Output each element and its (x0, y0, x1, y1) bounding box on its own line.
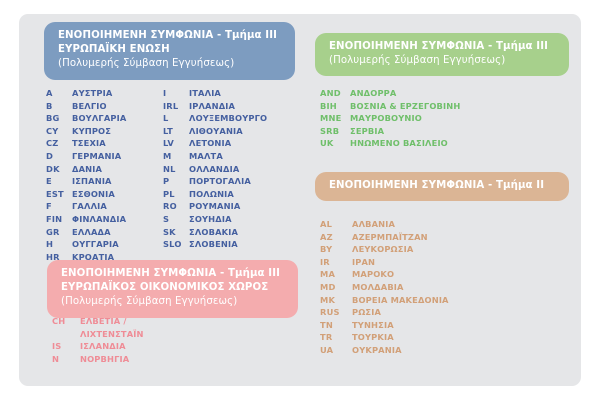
country-row: ANDΑΝΔΟΡΡΑ (320, 87, 460, 100)
tan-header-line-1: ΕΝΟΠΟΙΗΜΕΝΗ ΣΥΜΦΩΝΙΑ - Τμήμα II (329, 179, 555, 193)
country-name: ΣΛΟΒΑΚΙΑ (189, 226, 238, 239)
country-code: SK (163, 226, 189, 239)
eu-country-list-left: AΑΥΣΤΡΙΑBΒΕΛΓΙΟBGΒΟΥΛΓΑΡΙΑCYΚΥΠΡΟΣCZΤΣΕΧ… (46, 87, 126, 263)
country-code: CH (52, 315, 80, 328)
country-row: MAΜΑΡΟΚΟ (320, 268, 449, 281)
country-row: AΑΥΣΤΡΙΑ (46, 87, 126, 100)
country-code: PL (163, 188, 189, 201)
country-name: ΒΟΡΕΙΑ ΜΑΚΕΔΟΝΙΑ (352, 294, 449, 307)
country-name: ΛΕΤΟΝΙΑ (189, 137, 231, 150)
tan-country-list: ALΑΛΒΑΝΙΑAZΑΖΕΡΜΠΑΪΤΖΑΝBYΛΕΥΚΟΡΩΣΙΑIRΙΡΑ… (320, 218, 449, 357)
country-code: LT (163, 125, 189, 138)
country-row: LTΛΙΘΟΥΑΝΙΑ (163, 125, 267, 138)
country-name: ΜΑΛΤΑ (189, 150, 223, 163)
country-code: BG (46, 112, 72, 125)
country-code: EST (46, 188, 72, 201)
country-code: UK (320, 137, 350, 150)
country-name: ΡΟΥΜΑΝΙΑ (189, 200, 240, 213)
country-row: TRΤΟΥΡΚΙΑ (320, 331, 449, 344)
country-code: CY (46, 125, 72, 138)
country-code: MD (320, 281, 352, 294)
country-row: RUSΡΩΣΙΑ (320, 306, 449, 319)
country-name: ΓΑΛΛΙΑ (72, 200, 107, 213)
country-code: B (46, 100, 72, 113)
country-name: ΠΟΡΤΟΓΑΛΙΑ (189, 175, 251, 188)
country-name: ΚΥΠΡΟΣ (72, 125, 111, 138)
country-row: TNΤΥΝΗΣΙΑ (320, 319, 449, 332)
country-row: DΓΕΡΜΑΝΙΑ (46, 150, 126, 163)
country-code: D (46, 150, 72, 163)
country-row: CZΤΣΕΧΙΑ (46, 137, 126, 150)
country-row: GRΕΛΛΑΔΑ (46, 226, 126, 239)
pink-header-line-2: ΕΥΡΩΠΑΪΚΟΣ ΟΙΚΟΝΟΜΙΚΟΣ ΧΩΡΟΣ (61, 281, 284, 295)
country-name: ΙΣΛΑΝΔΙΑ (80, 340, 126, 353)
country-row: FΓΑΛΛΙΑ (46, 200, 126, 213)
country-row: ISΙΣΛΑΝΔΙΑ (52, 340, 144, 353)
country-code: MK (320, 294, 352, 307)
country-code: L (163, 112, 189, 125)
country-name: ΗΝΩΜΕΝΟ ΒΑΣΙΛΕΙΟ (350, 137, 448, 150)
country-row: HΟΥΓΓΑΡΙΑ (46, 238, 126, 251)
country-code: BY (320, 243, 352, 256)
country-code: CZ (46, 137, 72, 150)
country-code: AL (320, 218, 352, 231)
country-row: BGΒΟΥΛΓΑΡΙΑ (46, 112, 126, 125)
country-code: GR (46, 226, 72, 239)
country-name: ΙΡΛΑΝΔΙΑ (189, 100, 235, 113)
country-name: ΛΕΥΚΟΡΩΣΙΑ (352, 243, 413, 256)
country-row: PLΠΟΛΩΝΙΑ (163, 188, 267, 201)
country-code: IS (52, 340, 80, 353)
country-name: ΜΑΡΟΚΟ (352, 268, 394, 281)
country-row: SRBΣΕΡΒΙΑ (320, 125, 460, 138)
country-name: ΟΥΚΡΑΝΙΑ (352, 344, 402, 357)
country-code: MNE (320, 112, 350, 125)
green-header-line-2: (Πολυμερής Σύμβαση Εγγυήσεως) (329, 54, 555, 68)
eu-header-line-1: ΕΝΟΠΟΙΗΜΕΝΗ ΣΥΜΦΩΝΙΑ - Τμήμα III (58, 29, 281, 43)
pink-header-line-3: (Πολυμερής Σύμβαση Εγγυήσεως) (61, 295, 284, 309)
country-code: RO (163, 200, 189, 213)
country-name: ΜΑΥΡΟΒΟΥΝΙΟ (350, 112, 422, 125)
pink-section-header: ΕΝΟΠΟΙΗΜΕΝΗ ΣΥΜΦΩΝΙΑ - Τμήμα III ΕΥΡΩΠΑΪ… (47, 260, 298, 318)
country-row: CYΚΥΠΡΟΣ (46, 125, 126, 138)
country-code: IR (320, 256, 352, 269)
country-name: ΕΛΒΕΤΙΑ /ΛΙΧΤΕΝΣΤΑΪΝ (80, 315, 144, 340)
country-row: UKΗΝΩΜΕΝΟ ΒΑΣΙΛΕΙΟ (320, 137, 460, 150)
country-name: ΕΣΘΟΝΙΑ (72, 188, 115, 201)
eu-header-line-3: (Πολυμερής Σύμβαση Εγγυήσεως) (58, 57, 281, 71)
country-name: ΒΟΣΝΙΑ & ΕΡΖΕΓΟΒΙΝΗ (350, 100, 460, 113)
country-row: ALΑΛΒΑΝΙΑ (320, 218, 449, 231)
country-name: ΛΟΥΞΕΜΒΟΥΡΓΟ (189, 112, 267, 125)
country-name: ΙΤΑΛΙΑ (189, 87, 221, 100)
country-row: AZΑΖΕΡΜΠΑΪΤΖΑΝ (320, 231, 449, 244)
country-name: ΑΥΣΤΡΙΑ (72, 87, 112, 100)
country-row: PΠΟΡΤΟΓΑΛΙΑ (163, 175, 267, 188)
country-row: NLΟΛΛΑΝΔΙΑ (163, 163, 267, 176)
country-code: LV (163, 137, 189, 150)
country-code: F (46, 200, 72, 213)
country-code: UA (320, 344, 352, 357)
country-row: BYΛΕΥΚΟΡΩΣΙΑ (320, 243, 449, 256)
country-code: SLO (163, 238, 189, 251)
country-code: E (46, 175, 72, 188)
country-row: MΜΑΛΤΑ (163, 150, 267, 163)
country-row: LΛΟΥΞΕΜΒΟΥΡΓΟ (163, 112, 267, 125)
country-name: ΒΕΛΓΙΟ (72, 100, 107, 113)
country-row: UAΟΥΚΡΑΝΙΑ (320, 344, 449, 357)
country-name: ΕΛΛΑΔΑ (72, 226, 111, 239)
country-name: ΡΩΣΙΑ (352, 306, 381, 319)
country-name: ΑΖΕΡΜΠΑΪΤΖΑΝ (352, 231, 428, 244)
country-row: EΙΣΠΑΝΙΑ (46, 175, 126, 188)
green-section-header: ΕΝΟΠΟΙΗΜΕΝΗ ΣΥΜΦΩΝΙΑ - Τμήμα III (Πολυμε… (315, 33, 569, 76)
country-name: ΦΙΝΛΑΝΔΙΑ (72, 213, 126, 226)
country-code: M (163, 150, 189, 163)
pink-header-line-1: ΕΝΟΠΟΙΗΜΕΝΗ ΣΥΜΦΩΝΙΑ - Τμήμα III (61, 267, 284, 281)
country-code: NL (163, 163, 189, 176)
country-name: ΝΟΡΒΗΓΙΑ (80, 353, 129, 366)
green-country-list: ANDΑΝΔΟΡΡΑBIHΒΟΣΝΙΑ & ΕΡΖΕΓΟΒΙΝΗMNEΜΑΥΡΟ… (320, 87, 460, 150)
country-row: SLOΣΛΟΒΕΝΙΑ (163, 238, 267, 251)
eu-country-list-right: IΙΤΑΛΙΑIRLΙΡΛΑΝΔΙΑLΛΟΥΞΕΜΒΟΥΡΓΟLTΛΙΘΟΥΑΝ… (163, 87, 267, 251)
country-row: BΒΕΛΓΙΟ (46, 100, 126, 113)
country-row: MKΒΟΡΕΙΑ ΜΑΚΕΔΟΝΙΑ (320, 294, 449, 307)
country-name: ΒΟΥΛΓΑΡΙΑ (72, 112, 126, 125)
country-row: SΣΟΥΗΔΙΑ (163, 213, 267, 226)
country-code: AZ (320, 231, 352, 244)
country-name: ΤΥΝΗΣΙΑ (352, 319, 394, 332)
country-name: ΔΑΝΙΑ (72, 163, 102, 176)
country-name: ΤΣΕΧΙΑ (72, 137, 106, 150)
country-name: ΛΙΘΟΥΑΝΙΑ (189, 125, 243, 138)
country-row: LVΛΕΤΟΝΙΑ (163, 137, 267, 150)
country-row: FINΦΙΝΛΑΝΔΙΑ (46, 213, 126, 226)
country-row: IRLΙΡΛΑΝΔΙΑ (163, 100, 267, 113)
country-code: IRL (163, 100, 189, 113)
country-code: TN (320, 319, 352, 332)
country-code: AND (320, 87, 350, 100)
country-code: A (46, 87, 72, 100)
country-code: RUS (320, 306, 352, 319)
green-header-line-1: ΕΝΟΠΟΙΗΜΕΝΗ ΣΥΜΦΩΝΙΑ - Τμήμα III (329, 40, 555, 54)
country-name: ΠΟΛΩΝΙΑ (189, 188, 234, 201)
country-name: ΣΟΥΗΔΙΑ (189, 213, 232, 226)
country-row: IRΙΡΑΝ (320, 256, 449, 269)
country-name: ΑΝΔΟΡΡΑ (350, 87, 396, 100)
country-row: DKΔΑΝΙΑ (46, 163, 126, 176)
country-name: ΑΛΒΑΝΙΑ (352, 218, 395, 231)
country-row: IΙΤΑΛΙΑ (163, 87, 267, 100)
country-row: NΝΟΡΒΗΓΙΑ (52, 353, 144, 366)
country-name-continued: ΛΙΧΤΕΝΣΤΑΪΝ (80, 328, 144, 341)
country-name: ΙΣΠΑΝΙΑ (72, 175, 112, 188)
country-code: H (46, 238, 72, 251)
country-row: ROΡΟΥΜΑΝΙΑ (163, 200, 267, 213)
country-code: MA (320, 268, 352, 281)
country-row: ESTΕΣΘΟΝΙΑ (46, 188, 126, 201)
country-code: FIN (46, 213, 72, 226)
page-root: ΕΝΟΠΟΙΗΜΕΝΗ ΣΥΜΦΩΝΙΑ - Τμήμα III ΕΥΡΩΠΑΪ… (0, 0, 600, 402)
country-row: BIHΒΟΣΝΙΑ & ΕΡΖΕΓΟΒΙΝΗ (320, 100, 460, 113)
country-name: ΣΛΟΒΕΝΙΑ (189, 238, 238, 251)
country-name: ΓΕΡΜΑΝΙΑ (72, 150, 121, 163)
country-name: ΟΥΓΓΑΡΙΑ (72, 238, 119, 251)
country-row: MDΜΟΛΔΑΒΙΑ (320, 281, 449, 294)
country-row: CHΕΛΒΕΤΙΑ /ΛΙΧΤΕΝΣΤΑΪΝ (52, 315, 144, 340)
pink-country-list: CHΕΛΒΕΤΙΑ /ΛΙΧΤΕΝΣΤΑΪΝISΙΣΛΑΝΔΙΑNΝΟΡΒΗΓΙ… (52, 315, 144, 365)
country-code: SRB (320, 125, 350, 138)
eu-section-header: ΕΝΟΠΟΙΗΜΕΝΗ ΣΥΜΦΩΝΙΑ - Τμήμα III ΕΥΡΩΠΑΪ… (44, 22, 295, 80)
country-code: I (163, 87, 189, 100)
country-code: BIH (320, 100, 350, 113)
eu-header-line-2: ΕΥΡΩΠΑΪΚΗ ΕΝΩΣΗ (58, 43, 281, 57)
country-code: TR (320, 331, 352, 344)
country-code: P (163, 175, 189, 188)
country-code: DK (46, 163, 72, 176)
country-row: SKΣΛΟΒΑΚΙΑ (163, 226, 267, 239)
country-name: ΤΟΥΡΚΙΑ (352, 331, 394, 344)
country-name: ΙΡΑΝ (352, 256, 375, 269)
country-name: ΜΟΛΔΑΒΙΑ (352, 281, 404, 294)
tan-section-header: ΕΝΟΠΟΙΗΜΕΝΗ ΣΥΜΦΩΝΙΑ - Τμήμα II (315, 172, 569, 201)
country-code: S (163, 213, 189, 226)
country-code: N (52, 353, 80, 366)
country-row: MNEΜΑΥΡΟΒΟΥΝΙΟ (320, 112, 460, 125)
country-name: ΟΛΛΑΝΔΙΑ (189, 163, 239, 176)
country-name: ΣΕΡΒΙΑ (350, 125, 384, 138)
